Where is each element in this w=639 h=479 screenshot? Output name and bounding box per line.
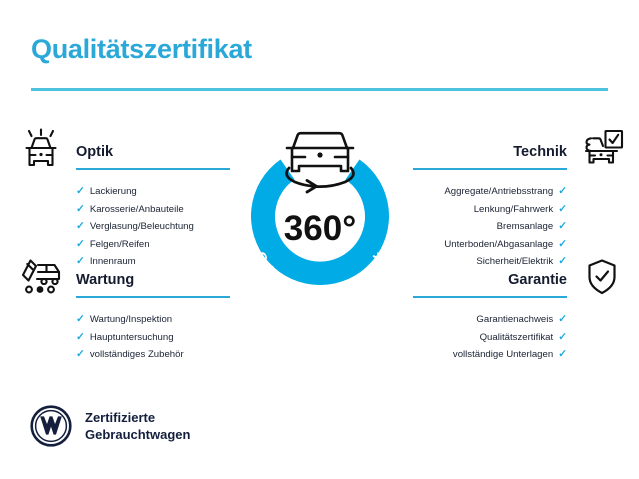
checklist-wartung: ✓Wartung/Inspektion ✓Hauptuntersuchung ✓… (18, 311, 230, 364)
check-icon: ✓ (558, 220, 567, 232)
car-checkbox-icon (579, 128, 625, 170)
check-icon: ✓ (76, 220, 85, 232)
shield-check-icon (579, 256, 625, 298)
check-icon: ✓ (76, 348, 85, 360)
list-item: ✓Wartung/Inspektion (76, 311, 230, 329)
list-item: Bremsanlage✓ (413, 218, 567, 236)
badge-360-gebrauchtwagen-check: 360° Gebrauchtwagen-Check (227, 118, 413, 314)
check-icon: ✓ (76, 203, 85, 215)
list-item-label: Aggregate/Antriebsstrang (444, 186, 553, 197)
section-underline-garantie (413, 296, 567, 298)
list-item-label: Karosserie/Anbauteile (90, 204, 184, 215)
list-item: Lenkung/Fahrwerk✓ (413, 201, 567, 219)
vw-footer-text: Zertifizierte Gebrauchtwagen (85, 409, 190, 443)
vw-footer-logo: Zertifizierte Gebrauchtwagen (30, 405, 190, 447)
section-underline-technik (413, 168, 567, 170)
pen-car-icon (18, 256, 64, 298)
list-item: Qualitätszertifikat✓ (413, 329, 567, 347)
list-item: ✓Karosserie/Anbauteile (76, 201, 230, 219)
check-icon: ✓ (558, 348, 567, 360)
section-header-technik: Technik (413, 128, 625, 176)
check-icon: ✓ (558, 331, 567, 343)
list-item-label: Wartung/Inspektion (90, 314, 172, 325)
list-item-label: Garantienachweis (476, 314, 553, 325)
check-icon: ✓ (558, 185, 567, 197)
list-item: Aggregate/Antriebsstrang✓ (413, 183, 567, 201)
list-item-label: Lackierung (90, 186, 137, 197)
section-garantie: Garantie Garantienachweis✓ Qualitätszert… (413, 256, 625, 380)
list-item: ✓Verglasung/Beleuchtung (76, 218, 230, 236)
list-item-label: Hauptuntersuchung (90, 332, 174, 343)
section-underline-optik (76, 168, 230, 170)
check-icon: ✓ (76, 331, 85, 343)
list-item: ✓Lackierung (76, 183, 230, 201)
list-item-label: Unterboden/Abgasanlage (444, 239, 553, 250)
section-header-garantie: Garantie (413, 256, 625, 304)
section-header-optik: Optik (18, 128, 230, 176)
list-item: vollständige Unterlagen✓ (413, 346, 567, 364)
list-item-label: Felgen/Reifen (90, 239, 150, 250)
car-rotate-icon (287, 133, 354, 192)
section-wartung: Wartung ✓Wartung/Inspektion ✓Hauptunters… (18, 256, 230, 380)
list-item-label: Qualitätszertifikat (480, 332, 554, 343)
check-icon: ✓ (76, 313, 85, 325)
section-title-technik: Technik (513, 144, 567, 160)
list-item-label: Lenkung/Fahrwerk (474, 204, 553, 215)
list-item-label: Bremsanlage (497, 221, 554, 232)
section-underline-wartung (76, 296, 230, 298)
list-item: ✓Hauptuntersuchung (76, 329, 230, 347)
page-title: Qualitätszertifikat (31, 34, 252, 65)
checklist-garantie: Garantienachweis✓ Qualitätszertifikat✓ v… (413, 311, 625, 364)
section-title-optik: Optik (76, 144, 113, 160)
list-item-label: vollständige Unterlagen (453, 349, 553, 360)
list-item-label: Verglasung/Beleuchtung (90, 221, 194, 232)
list-item: ✓Felgen/Reifen (76, 236, 230, 254)
certificate-page: Qualitätszertifikat (0, 0, 639, 479)
vw-footer-line1: Zertifizierte (85, 410, 155, 425)
title-divider (31, 88, 608, 91)
vw-logo (30, 405, 72, 447)
badge-center-text: 360° (284, 209, 356, 248)
car-shine-icon (18, 128, 64, 170)
section-title-garantie: Garantie (508, 272, 567, 288)
vw-footer-line2: Gebrauchtwagen (85, 427, 190, 442)
list-item: ✓vollständiges Zubehör (76, 346, 230, 364)
check-icon: ✓ (76, 238, 85, 250)
check-icon: ✓ (558, 313, 567, 325)
section-header-wartung: Wartung (18, 256, 230, 304)
section-title-wartung: Wartung (76, 272, 134, 288)
check-icon: ✓ (558, 203, 567, 215)
list-item: Garantienachweis✓ (413, 311, 567, 329)
check-icon: ✓ (558, 238, 567, 250)
check-icon: ✓ (76, 185, 85, 197)
list-item-label: vollständiges Zubehör (90, 349, 184, 360)
list-item: Unterboden/Abgasanlage✓ (413, 236, 567, 254)
